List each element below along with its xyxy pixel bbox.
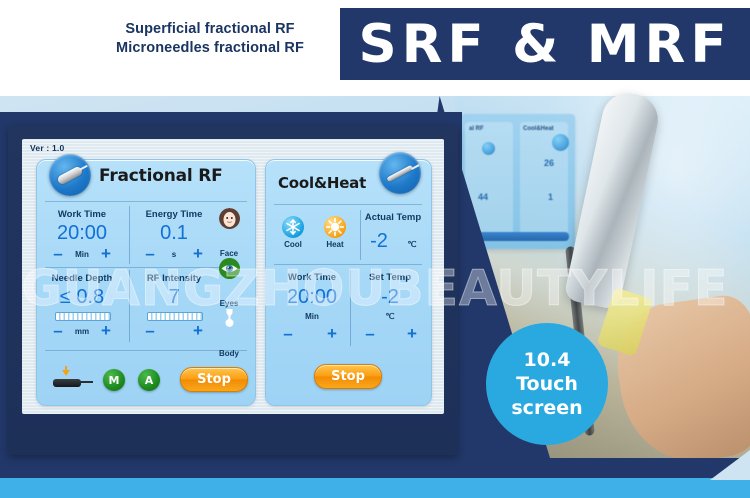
treatment-mode-icons: Face Eyes bbox=[209, 208, 249, 358]
version-label: Ver : 1.0 bbox=[30, 143, 64, 153]
device-bezel: Ver : 1.0 Fractional RF Work Time 20:00 … bbox=[8, 125, 458, 455]
badge-line2: Touch bbox=[516, 372, 578, 396]
rf-needle-depth-unit: mm bbox=[69, 327, 95, 336]
ch-work-time-unit: Min bbox=[270, 312, 354, 321]
rf-intensity-value: 7 bbox=[135, 286, 213, 309]
photo-label-coolheat: Cool&Heat bbox=[523, 126, 554, 132]
photo-value-2: 44 bbox=[478, 192, 488, 202]
rf-wand-shape bbox=[56, 165, 83, 185]
rf-intensity-minus[interactable]: – bbox=[143, 324, 157, 338]
rf-needle-depth-value: ≤ 0.8 bbox=[43, 286, 121, 309]
set-temp-label: Set Temp bbox=[352, 272, 428, 283]
bottom-navy-band bbox=[0, 458, 750, 478]
set-temp-minus[interactable]: – bbox=[362, 327, 378, 341]
ch-work-time-label: Work Time bbox=[270, 272, 354, 283]
fractional-rf-stop-button[interactable]: Stop bbox=[180, 367, 248, 392]
actual-temp-label: Actual Temp bbox=[358, 212, 428, 223]
mode-face[interactable]: Face bbox=[209, 208, 249, 258]
cool-label: Cool bbox=[272, 240, 314, 249]
mode-eyes-label: Eyes bbox=[209, 299, 249, 308]
rf-energy-time-value: 0.1 bbox=[135, 222, 213, 245]
mode-face-label: Face bbox=[209, 249, 249, 258]
cool-heat-wand-shape bbox=[386, 164, 413, 182]
rf-handpiece-icon[interactable] bbox=[49, 154, 91, 196]
cool-heat-panel: Cool&Heat bbox=[265, 159, 432, 406]
photo-handpiece bbox=[563, 89, 662, 311]
set-temp-plus[interactable]: + bbox=[404, 327, 420, 341]
header-subtitle-line1: Superficial fractional RF bbox=[95, 20, 325, 39]
mode-body[interactable]: Body bbox=[209, 308, 249, 358]
foot-pedal-arrow bbox=[62, 370, 70, 376]
photo-value-3: 1 bbox=[548, 192, 553, 202]
rf-intensity-label: RF Intensity bbox=[135, 273, 213, 284]
sun-icon[interactable] bbox=[324, 216, 346, 238]
rf-divider-v2 bbox=[129, 270, 130, 342]
page-header: Superficial fractional RF Microneedles f… bbox=[0, 0, 750, 96]
touch-screen-badge: 10.4 Touch screen bbox=[486, 323, 608, 445]
rf-energy-time-minus[interactable]: – bbox=[143, 247, 157, 261]
rf-work-time-unit: Min bbox=[69, 250, 95, 259]
actual-temp-unit: ℃ bbox=[402, 240, 422, 249]
rf-energy-time-plus[interactable]: + bbox=[191, 247, 205, 261]
foot-pedal-icon[interactable] bbox=[53, 372, 87, 388]
header-banner: SRF & MRF bbox=[340, 8, 750, 80]
eye-icon bbox=[219, 258, 240, 279]
header-subtitle: Superficial fractional RF Microneedles f… bbox=[95, 20, 325, 58]
photo-bubble-2 bbox=[552, 134, 569, 151]
mode-m-button[interactable]: M bbox=[103, 369, 125, 391]
header-banner-title: SRF & MRF bbox=[340, 8, 750, 80]
rf-needle-depth-minus[interactable]: – bbox=[51, 324, 65, 338]
rf-intensity-bar[interactable] bbox=[147, 312, 203, 321]
rf-work-time-plus[interactable]: + bbox=[99, 247, 113, 261]
face-icon bbox=[219, 208, 240, 229]
mode-body-label: Body bbox=[209, 349, 249, 358]
set-temp-unit: ℃ bbox=[352, 312, 428, 321]
touch-screen[interactable]: Ver : 1.0 Fractional RF Work Time 20:00 … bbox=[22, 139, 444, 414]
badge-line3: screen bbox=[511, 396, 582, 420]
panel-divider-top bbox=[45, 201, 247, 202]
heat-label: Heat bbox=[314, 240, 356, 249]
rf-divider-v1 bbox=[129, 206, 130, 264]
rf-work-time-label: Work Time bbox=[43, 209, 121, 220]
rf-needle-depth-plus[interactable]: + bbox=[99, 324, 113, 338]
rf-energy-time-unit: s bbox=[161, 250, 187, 259]
actual-temp-value: -2 bbox=[354, 230, 404, 253]
badge-line1: 10.4 bbox=[524, 348, 571, 372]
ch-divider-top bbox=[274, 204, 422, 205]
rf-work-time-minus[interactable]: – bbox=[51, 247, 65, 261]
fractional-rf-title: Fractional RF bbox=[99, 166, 223, 186]
screenshot-root: Superficial fractional RF Microneedles f… bbox=[0, 0, 750, 498]
ch-work-time-plus[interactable]: + bbox=[324, 327, 340, 341]
rf-energy-time-label: Energy Time bbox=[135, 209, 213, 220]
rf-intensity-plus[interactable]: + bbox=[191, 324, 205, 338]
snowflake-icon[interactable] bbox=[282, 216, 304, 238]
rf-divider-h1 bbox=[45, 267, 223, 268]
cool-heat-stop-button[interactable]: Stop bbox=[314, 364, 382, 389]
ch-divider-h1 bbox=[274, 264, 422, 265]
photo-label-rf: al RF bbox=[469, 126, 484, 132]
mode-a-button[interactable]: A bbox=[138, 369, 160, 391]
bottom-cyan-band bbox=[0, 478, 750, 498]
fractional-rf-panel: Fractional RF Work Time 20:00 – Min + En… bbox=[36, 159, 256, 406]
foot-pedal-cord bbox=[79, 381, 93, 383]
ch-divider-v2 bbox=[350, 270, 351, 346]
rf-needle-depth-bar[interactable] bbox=[55, 312, 111, 321]
body-icon bbox=[219, 308, 240, 329]
photo-value-1: 26 bbox=[544, 158, 554, 168]
rf-work-time-value: 20:00 bbox=[43, 222, 121, 245]
cool-heat-handpiece-icon[interactable] bbox=[379, 152, 421, 194]
foot-pedal-base bbox=[53, 379, 81, 387]
mode-eyes[interactable]: Eyes bbox=[209, 258, 249, 308]
header-subtitle-line2: Microneedles fractional RF bbox=[95, 39, 325, 58]
ch-work-time-value: 20:00 bbox=[270, 286, 354, 309]
set-temp-value: -2 bbox=[352, 286, 428, 309]
cool-heat-title: Cool&Heat bbox=[278, 174, 366, 192]
ch-work-time-minus[interactable]: – bbox=[280, 327, 296, 341]
rf-needle-depth-label: Needle Depth bbox=[43, 273, 121, 284]
photo-bubble-1 bbox=[482, 142, 495, 155]
